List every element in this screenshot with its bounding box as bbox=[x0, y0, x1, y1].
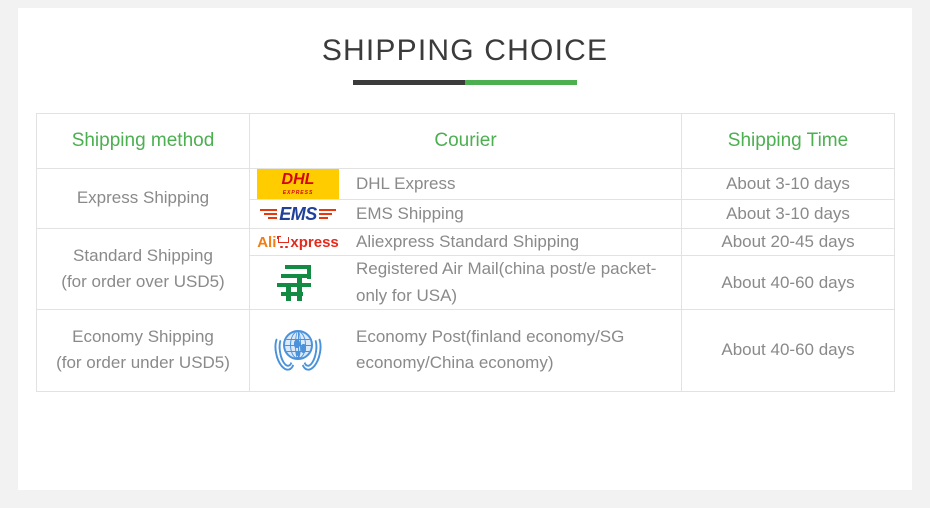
table-row: Economy Shipping (for order under USD5) bbox=[37, 310, 895, 392]
courier-name: Economy Post(finland economy/SG economy/… bbox=[346, 324, 681, 377]
united-nations-logo bbox=[272, 325, 324, 375]
method-note: (for order under USD5) bbox=[37, 350, 249, 376]
shipping-choice-card: SHIPPING CHOICE Shipping method Courier … bbox=[18, 8, 912, 490]
ems-logo: EMS bbox=[257, 200, 339, 228]
table-header-row: Shipping method Courier Shipping Time bbox=[37, 114, 895, 169]
method-label: Economy Shipping bbox=[37, 324, 249, 350]
shipping-table: Shipping method Courier Shipping Time Ex… bbox=[36, 113, 895, 392]
header-courier: Courier bbox=[250, 114, 682, 169]
title-block: SHIPPING CHOICE bbox=[18, 8, 912, 85]
method-label: Standard Shipping bbox=[37, 243, 249, 269]
time-cell: About 3-10 days bbox=[682, 200, 895, 229]
shopping-cart-icon bbox=[277, 236, 290, 248]
title-underline-green-segment bbox=[465, 80, 577, 85]
logo-slot: Ali xpress bbox=[250, 234, 346, 251]
page-title: SHIPPING CHOICE bbox=[18, 34, 912, 67]
un-olive-wreath bbox=[274, 333, 322, 373]
header-shipping-time: Shipping Time bbox=[682, 114, 895, 169]
title-underline bbox=[353, 80, 577, 85]
logo-slot: EMS bbox=[250, 200, 346, 228]
courier-cell-aliexpress: Ali xpress Ali bbox=[250, 229, 682, 256]
method-cell-economy: Economy Shipping (for order under USD5) bbox=[37, 310, 250, 392]
method-label: Express Shipping bbox=[37, 185, 249, 211]
ems-logo-right-stripes bbox=[319, 209, 336, 219]
courier-name: DHL Express bbox=[346, 171, 456, 197]
china-post-logo bbox=[275, 261, 321, 305]
dhl-logo: DHL EXPRESS bbox=[257, 169, 339, 199]
method-note: (for order over USD5) bbox=[37, 269, 249, 295]
courier-name: EMS Shipping bbox=[346, 201, 464, 227]
ems-logo-text: EMS bbox=[279, 204, 317, 224]
logo-slot: DHL EXPRESS bbox=[250, 169, 346, 199]
courier-cell-china-post: Registered Air Mail(china post/e packet-… bbox=[250, 256, 682, 310]
dhl-logo-text: DHL bbox=[257, 171, 339, 188]
aliexpress-logo-text-xpress: xpress bbox=[290, 234, 338, 251]
time-cell: About 20-45 days bbox=[682, 229, 895, 256]
table-row: Express Shipping DHL EXPRESS DHL Express bbox=[37, 169, 895, 200]
table-row: Standard Shipping (for order over USD5) … bbox=[37, 229, 895, 256]
header-shipping-method: Shipping method bbox=[37, 114, 250, 169]
ems-logo-left-stripes bbox=[260, 209, 277, 219]
logo-slot bbox=[250, 261, 346, 305]
courier-cell-ems: EMS EMS Shipping bbox=[250, 200, 682, 229]
time-cell: About 40-60 days bbox=[682, 310, 895, 392]
aliexpress-logo-text-ali: Ali bbox=[257, 234, 276, 251]
courier-name: Aliexpress Standard Shipping bbox=[346, 229, 579, 255]
title-underline-dark-segment bbox=[353, 80, 465, 85]
method-cell-express: Express Shipping bbox=[37, 169, 250, 229]
method-cell-standard: Standard Shipping (for order over USD5) bbox=[37, 229, 250, 310]
courier-cell-dhl: DHL EXPRESS DHL Express bbox=[250, 169, 682, 200]
aliexpress-logo: Ali xpress bbox=[257, 234, 339, 251]
time-cell: About 3-10 days bbox=[682, 169, 895, 200]
time-cell: About 40-60 days bbox=[682, 256, 895, 310]
logo-slot bbox=[250, 325, 346, 375]
courier-cell-economy-post: Economy Post(finland economy/SG economy/… bbox=[250, 310, 682, 392]
shipping-table-wrapper: Shipping method Courier Shipping Time Ex… bbox=[36, 113, 894, 392]
courier-name: Registered Air Mail(china post/e packet-… bbox=[346, 256, 681, 309]
dhl-logo-subtext: EXPRESS bbox=[257, 190, 339, 196]
